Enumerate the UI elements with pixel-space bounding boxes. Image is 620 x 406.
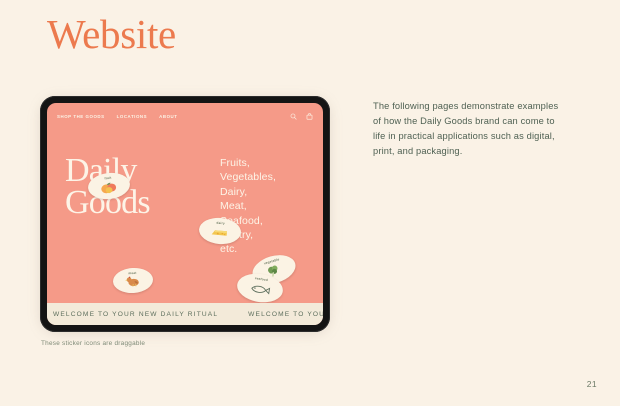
chicken-illustration (123, 274, 144, 288)
fruit-illustration (97, 179, 120, 195)
tablet-mockup: SHOP THE GOODS LOCATIONS ABOUT (40, 96, 330, 332)
category-fruits: Fruits, (220, 156, 276, 170)
marquee-banner: WELCOME TO YOUR NEW DAILY RITUAL WELCOME… (47, 303, 323, 325)
nav-link-about[interactable]: ABOUT (159, 114, 177, 119)
cheese-illustration (208, 224, 231, 239)
category-dairy: Dairy, (220, 185, 276, 199)
shopping-bag-icon[interactable] (306, 113, 313, 120)
nav-link-locations[interactable]: LOCATIONS (117, 114, 147, 119)
page-number: 21 (587, 379, 597, 389)
nav-link-shop-the-goods[interactable]: SHOP THE GOODS (57, 114, 105, 119)
hero-section: Daily Goods Fruits, Vegetables, Dairy, M… (47, 129, 323, 303)
nav-links: SHOP THE GOODS LOCATIONS ABOUT (57, 114, 178, 119)
description-text: The following pages demonstrate examples… (373, 99, 568, 159)
slide-canvas: Website The following pages demonstrate … (0, 0, 620, 406)
mockup-caption: These sticker icons are draggable (41, 340, 145, 347)
site-navbar: SHOP THE GOODS LOCATIONS ABOUT (47, 103, 323, 129)
tablet-screen: SHOP THE GOODS LOCATIONS ABOUT (47, 103, 323, 325)
page-title: Website (47, 14, 176, 55)
meat-sticker[interactable]: meat (112, 267, 154, 295)
marquee-item-1: WELCOME TO YOUR NEW DAILY RITUAL (53, 311, 218, 318)
category-etc: etc. (220, 242, 276, 256)
search-icon[interactable] (290, 113, 297, 120)
marquee-item-2: WELCOME TO YOUR NEW (248, 311, 323, 318)
category-vegetables: Vegetables, (220, 170, 276, 184)
fish-illustration (247, 280, 273, 297)
category-meat: Meat, (220, 199, 276, 213)
nav-icons (290, 113, 313, 120)
